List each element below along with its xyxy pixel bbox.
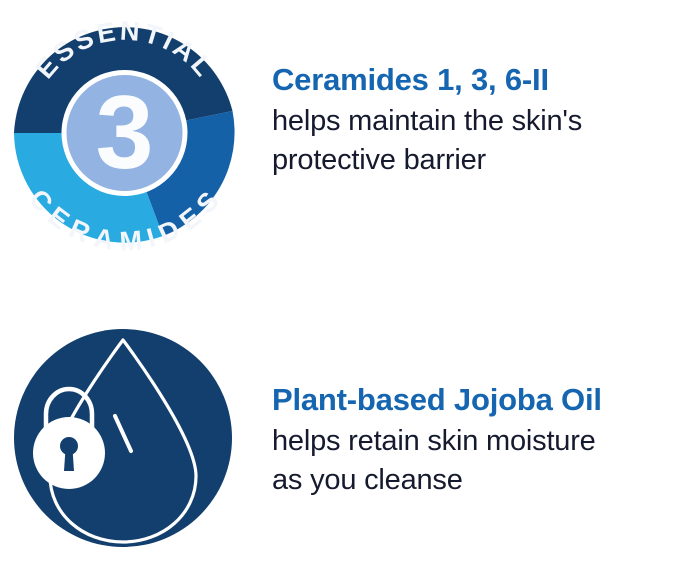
feature-description-jojoba: helps retain skin moisture as you cleans… [272,422,679,500]
feature-block-jojoba: Plant-based Jojoba Oil helps retain skin… [0,318,679,576]
feature-title-ceramides: Ceramides 1, 3, 6-II [272,60,679,100]
badge-numeral-3: 3 [96,75,154,191]
feature-description-line: protective barrier [272,141,679,180]
feature-description-line: helps retain skin moisture [272,422,679,461]
feature-text-ceramides: Ceramides 1, 3, 6-II helps maintain the … [250,8,679,180]
feature-description-line: as you cleanse [272,461,679,500]
feature-block-ceramides: 3 ESSENTIAL CERAMIDES Ceramides 1, 3, 6-… [0,8,679,268]
padlock-keyhole-stem-icon [64,449,74,471]
feature-description-line: helps maintain the skin's [272,102,679,141]
locked-moisture-droplet-badge [0,318,250,568]
essential-3-ceramides-badge: 3 ESSENTIAL CERAMIDES [0,8,250,258]
feature-text-jojoba: Plant-based Jojoba Oil helps retain skin… [250,318,679,500]
feature-description-ceramides: helps maintain the skin's protective bar… [272,102,679,180]
feature-title-jojoba: Plant-based Jojoba Oil [272,380,679,420]
